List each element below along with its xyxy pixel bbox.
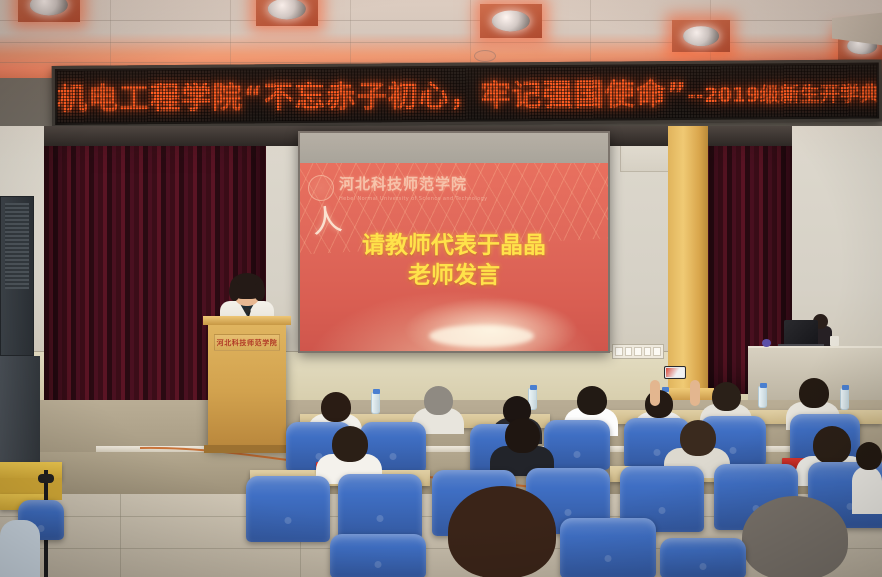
water-bottle — [840, 388, 849, 410]
university-name-en: Hebei Normal University of Science and T… — [339, 196, 488, 202]
speaker-hair-side-right — [254, 282, 265, 301]
pa-loudspeaker-lower — [0, 356, 40, 466]
audience-member — [490, 418, 554, 472]
audience-seat[interactable] — [660, 538, 746, 577]
water-bottle — [371, 392, 380, 414]
audience-seat[interactable] — [246, 476, 330, 542]
person-head — [505, 418, 540, 453]
audience-seat[interactable] — [338, 474, 422, 540]
person-arm — [650, 380, 660, 406]
ceiling-spotlight-icon — [672, 20, 730, 52]
screen-top-band — [300, 133, 608, 163]
slide-title-line2: 老师发言 — [300, 261, 608, 291]
speaker-hair-side-left — [229, 282, 240, 301]
audience-member — [0, 512, 40, 577]
podium-nameplate: 河北科技师范学院 — [214, 334, 280, 351]
water-bottle — [758, 386, 767, 408]
audience-seat[interactable] — [330, 534, 426, 577]
university-seal-icon — [308, 175, 334, 201]
microphone-icon — [244, 307, 250, 313]
person-head — [799, 378, 829, 408]
auditorium-photo: 机电工程学院“不忘赤子初心，牢记强国使命”--2019级新生开学典礼 河北科技师… — [0, 0, 882, 577]
podium: 河北科技师范学院 — [208, 322, 286, 448]
person-head — [448, 486, 556, 577]
led-panel: 机电工程学院“不忘赤子初心，牢记强国使命”--2019级新生开学典礼 — [57, 65, 877, 123]
podium-nameplate-text: 河北科技师范学院 — [217, 338, 278, 348]
person-shoulders — [0, 520, 40, 577]
ceiling-spotlight-icon — [18, 0, 80, 22]
led-main-text: 机电工程学院“不忘赤子初心，牢记强国使命” — [57, 77, 688, 117]
person-head — [680, 420, 716, 456]
slide-title-line1: 请教师代表于晶晶 — [300, 230, 608, 260]
person-head — [742, 496, 848, 577]
ceiling-spotlight-icon — [480, 4, 542, 38]
audience-member-front — [742, 496, 848, 577]
presentation-slide: 河北科技师范学院 Hebei Normal University of Scie… — [300, 163, 608, 351]
person-head — [424, 386, 453, 415]
person-shoulders — [852, 466, 882, 514]
cup — [830, 336, 839, 346]
audience-seat[interactable] — [560, 518, 656, 577]
podium-base — [204, 445, 290, 453]
smartphone-icon[interactable] — [664, 366, 686, 379]
person-head — [577, 386, 607, 415]
audience-member-photographer — [648, 362, 704, 408]
person-arm — [690, 380, 700, 406]
mic-stand-clamp — [38, 474, 54, 483]
university-name-cn: 河北科技师范学院 — [339, 173, 488, 194]
pa-loudspeaker-upper — [0, 196, 34, 356]
speaker-grill — [5, 203, 29, 289]
led-sub-text: --2019级新生开学典礼 — [687, 81, 877, 107]
audience-member — [316, 426, 382, 480]
university-logo: 河北科技师范学院 Hebei Normal University of Scie… — [308, 173, 488, 202]
person-head — [712, 382, 741, 411]
person-head — [321, 392, 351, 422]
slide-title: 请教师代表于晶晶 老师发言 — [300, 230, 608, 291]
light-switch-plate[interactable] — [612, 344, 664, 359]
audience-member — [852, 452, 882, 512]
person-head — [813, 426, 851, 464]
led-banner-text: 机电工程学院“不忘赤子初心，牢记强国使命”--2019级新生开学典礼 — [57, 68, 877, 118]
led-banner: 机电工程学院“不忘赤子初心，牢记强国使命”--2019级新生开学典礼 — [52, 59, 882, 128]
ceiling-spotlight-icon — [256, 0, 318, 26]
audience-member-front — [448, 486, 556, 577]
desk-object — [762, 339, 771, 347]
podium-top — [203, 316, 291, 325]
slide-swirl-highlight — [429, 325, 534, 348]
person-head — [332, 426, 368, 462]
person-head — [856, 442, 882, 470]
laptop-icon[interactable] — [784, 320, 818, 346]
projection-screen: 河北科技师范学院 Hebei Normal University of Scie… — [298, 131, 610, 353]
ceiling-vent-icon — [474, 50, 496, 62]
